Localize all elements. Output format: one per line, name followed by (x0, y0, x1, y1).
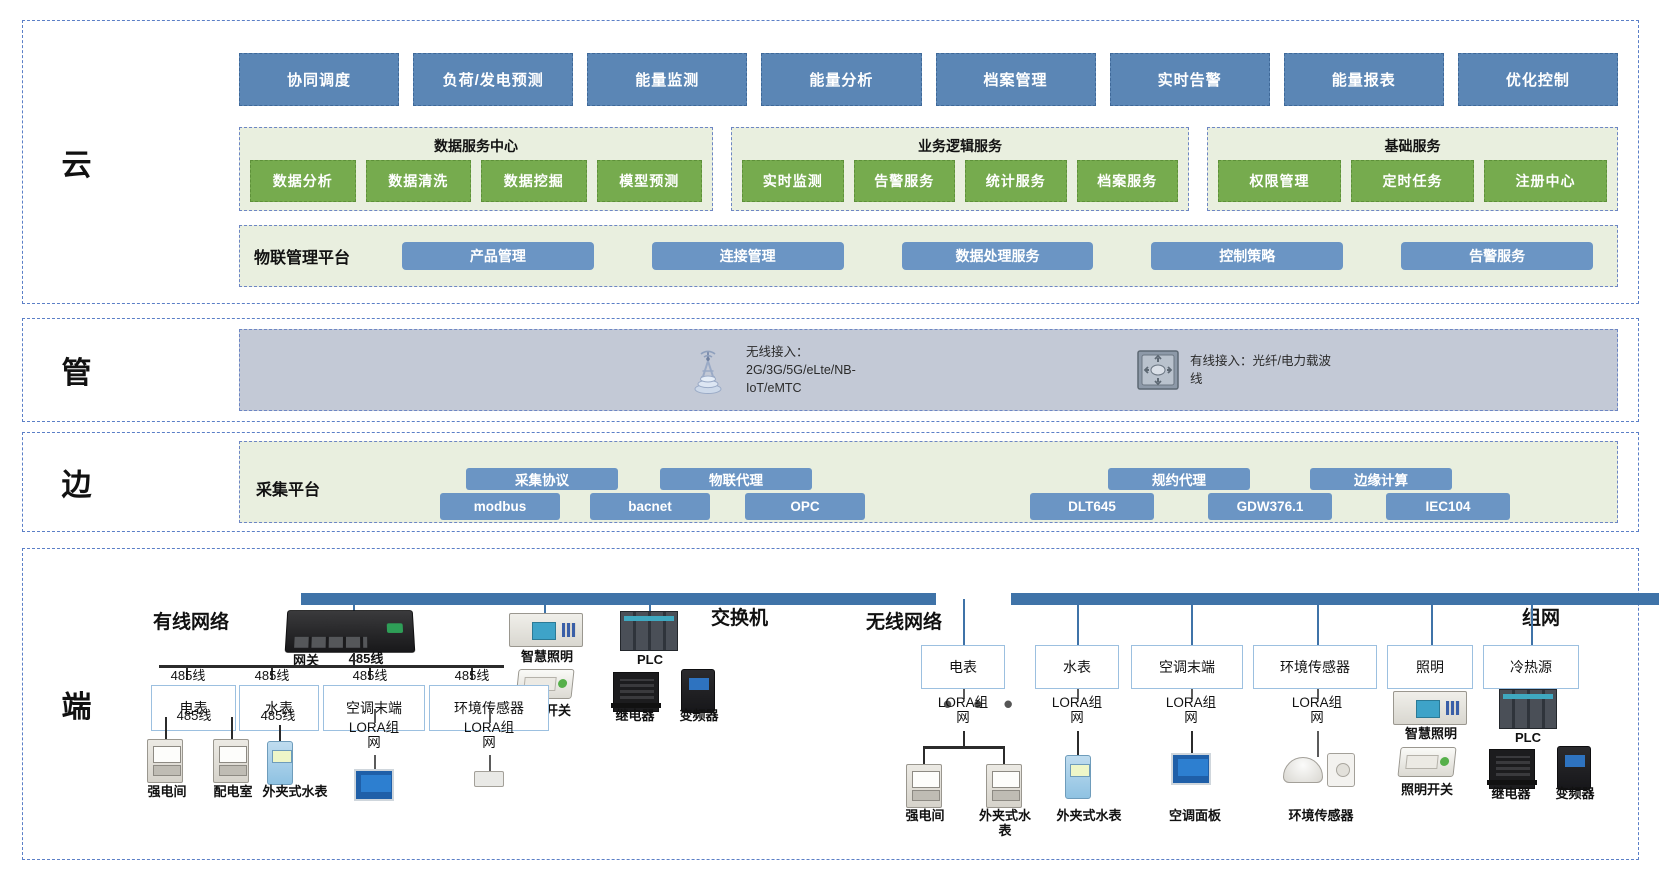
wired-device-label-waijiashishuibiao: 外夹式水表 (245, 785, 345, 800)
wireless-drop-1 (963, 599, 965, 647)
w-dianbiao-drop-2 (1003, 746, 1005, 764)
service-chip-shujuqingxi[interactable]: 数据清洗 (366, 160, 472, 202)
layer-pipe: 管 无线接入：2G/3G/5G/eLt (22, 318, 1639, 422)
lora-label-huanjing: LORA组网 (462, 721, 516, 751)
vfd-icon (681, 669, 715, 713)
cloud-service-groups: 数据服务中心 数据分析 数据清洗 数据挖掘 模型预测 业务逻辑服务 实时监测 告… (239, 127, 1618, 211)
wireless-lora-label-huanjing: LORA组网 (1290, 696, 1344, 726)
light-switch-icon (1397, 747, 1456, 777)
smart-lighting-icon (1393, 691, 1467, 725)
layer-device: 端 有线网络 交换机 网关 485线 智慧照明 照明开关 PLC 继电器 变频器… (22, 548, 1639, 860)
edge-band: 采集平台 采集协议 物联代理 规约代理 边缘计算 modbus bacnet O… (239, 441, 1618, 523)
layer-label-edge: 边 (23, 460, 131, 504)
wireless-lora-label-shuibiao: LORA组网 (1050, 696, 1104, 726)
pipe-access-wired-text: 有线接入：光纤/电力载波线 (1190, 352, 1340, 388)
service-chip-shujufenxi[interactable]: 数据分析 (250, 160, 356, 202)
dianbiao-drop-2 (231, 717, 233, 739)
wired-router-icon (1136, 349, 1180, 391)
app-box-nengliangjiance[interactable]: 能量监测 (587, 53, 747, 106)
kongtiao-device-riser (374, 755, 376, 769)
rs485-sublabel-dianbiao: 485线 (165, 709, 223, 724)
layer-cloud: 云 协同调度 负荷/发电预测 能量监测 能量分析 档案管理 实时告警 能量报表 … (22, 20, 1639, 304)
edge-chip-dlt645[interactable]: DLT645 (1030, 493, 1154, 520)
app-box-shishigaojing[interactable]: 实时告警 (1110, 53, 1270, 106)
wired-device-label-qiangdianjian: 强电间 (135, 785, 199, 800)
gateway-device-icon (285, 610, 416, 653)
pipe-access-wired: 有线接入：光纤/电力载波线 (1136, 349, 1340, 391)
cloud-application-row: 协同调度 负荷/发电预测 能量监测 能量分析 档案管理 实时告警 能量报表 优化… (239, 53, 1618, 106)
rs485-label-2: 485线 (243, 669, 301, 684)
service-group-items: 权限管理 定时任务 注册中心 (1208, 160, 1617, 210)
wireless-net-label: 组网 (1522, 603, 1560, 630)
rs485-label-1: 485线 (159, 669, 217, 684)
layer-label-device: 端 (23, 682, 131, 726)
service-group-title: 基础服务 (1208, 133, 1617, 160)
iot-chip-lianjieguanli[interactable]: 连接管理 (652, 242, 844, 270)
smoke-detector-icon (1283, 757, 1323, 783)
edge-chip-opc[interactable]: OPC (745, 493, 865, 520)
iot-chip-gaojingfuwu[interactable]: 告警服务 (1401, 242, 1593, 270)
app-box-fuhefadianyuce[interactable]: 负荷/发电预测 (413, 53, 573, 106)
service-chip-gaojingfuwu[interactable]: 告警服务 (854, 160, 956, 202)
app-box-nengliangbaobiao[interactable]: 能量报表 (1284, 53, 1444, 106)
wireless-node-kongtiaomoduan[interactable]: 空调末端 (1131, 645, 1243, 689)
pipe-layer-body: 无线接入：2G/3G/5G/eLte/NB-IoT/eMTC 有线接入：光纤/电… (131, 319, 1638, 421)
cloud-layer-body: 协同调度 负荷/发电预测 能量监测 能量分析 档案管理 实时告警 能量报表 优化… (131, 21, 1638, 303)
plc-icon (620, 611, 678, 651)
service-chip-shujuwajue[interactable]: 数据挖掘 (481, 160, 587, 202)
ac-panel-icon (1171, 753, 1211, 785)
service-group-items: 实时监测 告警服务 统计服务 档案服务 (732, 160, 1188, 210)
layer-label-cloud: 云 (23, 140, 131, 184)
edge-chip-guiyuedaili[interactable]: 规约代理 (1108, 468, 1250, 490)
w-dianbiao-bus (923, 746, 1005, 749)
app-box-youhuakongzhi[interactable]: 优化控制 (1458, 53, 1618, 106)
wireless-drop-3 (1191, 599, 1193, 647)
wireless-drop-2 (1077, 599, 1079, 647)
service-chip-tongjifuwu[interactable]: 统计服务 (965, 160, 1067, 202)
env-sensor-icon (1327, 753, 1355, 787)
wireless-lora-label-kongtiao: LORA组网 (1164, 696, 1218, 726)
service-group-business-logic: 业务逻辑服务 实时监测 告警服务 统计服务 档案服务 (731, 127, 1189, 211)
edge-chip-gdw3761[interactable]: GDW376.1 (1208, 493, 1332, 520)
vfd-icon (1557, 746, 1591, 790)
wireless-device-label-huanjingchuanganqi: 环境传感器 (1263, 809, 1379, 824)
rs485-bus-riser (353, 653, 355, 667)
wired-network-bus (301, 593, 936, 605)
w-huanjing-riser (1317, 731, 1319, 757)
wireless-device-label-plc: PLC (1497, 731, 1559, 746)
smart-lighting-icon (509, 613, 583, 647)
cell-tower-icon (680, 342, 736, 398)
huanjing-device-riser (489, 755, 491, 771)
wireless-device-label-jidianqi: 继电器 (1477, 787, 1545, 802)
layer-edge: 边 采集平台 采集协议 物联代理 规约代理 边缘计算 modbus bacnet… (22, 432, 1639, 532)
app-box-xietiaodiaodu[interactable]: 协同调度 (239, 53, 399, 106)
wireless-node-lengreyuan[interactable]: 冷热源 (1483, 645, 1579, 689)
rs485-sublabel-shuibiao: 485线 (249, 709, 307, 724)
pipe-access-wireless-text: 无线接入：2G/3G/5G/eLte/NB-IoT/eMTC (746, 343, 896, 397)
service-chip-zhuceZhongxin[interactable]: 注册中心 (1484, 160, 1607, 202)
wireless-node-zhaoming[interactable]: 照明 (1387, 645, 1473, 689)
iot-chip-chanpinguanli[interactable]: 产品管理 (402, 242, 594, 270)
wireless-device-label-kongtiaomianban: 空调面板 (1149, 809, 1241, 824)
service-group-basic: 基础服务 权限管理 定时任务 注册中心 (1207, 127, 1618, 211)
wireless-drop-4 (1317, 599, 1319, 647)
service-chip-quanxianguanli[interactable]: 权限管理 (1218, 160, 1341, 202)
edge-chip-modbus[interactable]: modbus (440, 493, 560, 520)
wireless-lora-label-dianbiao: LORA组网 (936, 696, 990, 726)
vfd-label: 变频器 (665, 709, 733, 724)
shuibiao-drop (279, 725, 281, 741)
electric-meter-icon (147, 739, 183, 783)
rs485-label-3: 485线 (341, 669, 399, 684)
edge-chip-bacnet[interactable]: bacnet (590, 493, 710, 520)
wireless-network-bus (1011, 593, 1659, 605)
service-group-items: 数据分析 数据清洗 数据挖掘 模型预测 (240, 160, 712, 210)
wireless-device-label-waijiashishuibiao: 外夹式水表 (1039, 809, 1139, 824)
iot-platform-band: 物联管理平台 产品管理 连接管理 数据处理服务 控制策略 告警服务 (239, 225, 1618, 287)
service-chip-shishijiance[interactable]: 实时监测 (742, 160, 844, 202)
edge-chip-caijixieyi[interactable]: 采集协议 (466, 468, 618, 490)
w-dianbiao-riser (963, 731, 965, 747)
smart-lighting-label: 智慧照明 (495, 650, 599, 665)
service-group-data-center: 数据服务中心 数据分析 数据清洗 数据挖掘 模型预测 (239, 127, 713, 211)
wireless-drop-6 (1531, 599, 1533, 647)
wireless-node-dianbiao[interactable]: 电表 (921, 645, 1005, 689)
service-group-title: 数据服务中心 (240, 133, 712, 160)
pipe-band: 无线接入：2G/3G/5G/eLte/NB-IoT/eMTC 有线接入：光纤/电… (239, 329, 1618, 411)
iot-platform-title: 物联管理平台 (254, 244, 402, 268)
device-layer-body: 有线网络 交换机 网关 485线 智慧照明 照明开关 PLC 继电器 变频器 4… (131, 549, 1638, 859)
electric-meter-icon (906, 764, 942, 808)
plc-label: PLC (619, 653, 681, 668)
wireless-device-label-bianpinqi: 变频器 (1541, 787, 1609, 802)
relay-icon (1489, 749, 1535, 789)
edge-chip-wulianLdaili[interactable]: 物联代理 (660, 468, 812, 490)
iot-chip-shujuchulifuwu[interactable]: 数据处理服务 (902, 242, 1094, 270)
ac-panel-icon (354, 769, 394, 801)
service-chip-danganfuwu[interactable]: 档案服务 (1077, 160, 1179, 202)
edge-platform-title: 采集平台 (256, 476, 320, 500)
wireless-drop-5 (1431, 599, 1433, 647)
dianbiao-drop-1 (165, 717, 167, 739)
wireless-device-label-qiangdianjian: 强电间 (893, 809, 957, 824)
water-meter-icon (267, 741, 293, 785)
wireless-device-label-zhihuizhaoming: 智慧照明 (1379, 727, 1483, 742)
electric-meter-icon (213, 739, 249, 783)
w-kongtiao-riser (1191, 731, 1193, 753)
wireless-node-shuibiao[interactable]: 水表 (1035, 645, 1119, 689)
relay-label: 继电器 (601, 709, 669, 724)
water-meter-icon (1065, 755, 1091, 799)
plc-icon (1499, 689, 1557, 729)
edge-chip-iec104[interactable]: IEC104 (1386, 493, 1510, 520)
layer-label-pipe: 管 (23, 348, 131, 392)
rs485-bus (159, 665, 504, 668)
edge-chip-bianyuanjisuan[interactable]: 边缘计算 (1310, 468, 1452, 490)
env-sensor-icon (474, 771, 504, 787)
lora-label-kongtiao: LORA组网 (347, 721, 401, 751)
wireless-network-title: 无线网络 (866, 607, 942, 634)
w-dianbiao-drop-1 (923, 746, 925, 764)
electric-meter-icon (986, 764, 1022, 808)
switch-label: 交换机 (711, 603, 768, 630)
iot-chip-kongzhicelve[interactable]: 控制策略 (1151, 242, 1343, 270)
app-box-nengliangfenxi[interactable]: 能量分析 (761, 53, 921, 106)
w-shuibiao-riser (1077, 731, 1079, 755)
wireless-node-huanjingchuanganqi[interactable]: 环境传感器 (1253, 645, 1377, 689)
iot-platform-items: 产品管理 连接管理 数据处理服务 控制策略 告警服务 (402, 242, 1603, 270)
wired-network-title: 有线网络 (153, 607, 229, 634)
service-chip-moxingyuce[interactable]: 模型预测 (597, 160, 703, 202)
service-group-title: 业务逻辑服务 (732, 133, 1188, 160)
edge-layer-body: 采集平台 采集协议 物联代理 规约代理 边缘计算 modbus bacnet O… (131, 433, 1638, 531)
app-box-danganguanli[interactable]: 档案管理 (936, 53, 1096, 106)
pipe-access-wireless: 无线接入：2G/3G/5G/eLte/NB-IoT/eMTC (680, 342, 896, 398)
wireless-device-label-peidianshi: 外夹式水表 (973, 809, 1037, 839)
service-chip-dingshirenwu[interactable]: 定时任务 (1351, 160, 1474, 202)
relay-icon (613, 672, 659, 712)
rs485-label-4: 485线 (443, 669, 501, 684)
wireless-device-label-zhaomingkaiguan: 照明开关 (1375, 783, 1479, 798)
